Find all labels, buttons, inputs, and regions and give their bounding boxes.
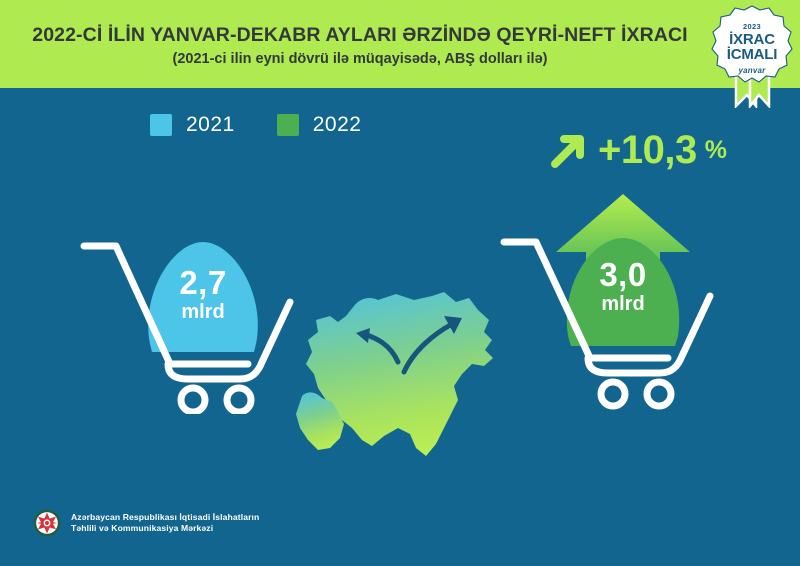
azerbaijan-map-icon (286, 288, 516, 478)
infographic-poster: 2022-Cİ İLİN YANVAR-DEKABR AYLARI ƏRZİND… (0, 0, 800, 566)
growth-value: +10,3 (598, 130, 697, 170)
legend-swatch-2022-icon (277, 114, 299, 136)
footer-line1: Azərbaycan Respublikası İqtisadi İslahat… (71, 512, 259, 524)
footer-text-block: Azərbaycan Respublikası İqtisadi İslahat… (71, 512, 259, 535)
organization-emblem-icon (32, 508, 62, 538)
legend-item-2022: 2022 (277, 113, 362, 137)
page-subtitle: (2021-ci ilin eyni dövrü ilə müqayisədə,… (0, 48, 720, 70)
legend-label-2021: 2021 (186, 113, 235, 137)
chart-legend: 2021 2022 (150, 113, 361, 137)
legend-swatch-2021-icon (150, 114, 172, 136)
footer-line2: Təhlili və Kommunikasiya Mərkəzi (71, 523, 259, 535)
title-block: 2022-Cİ İLİN YANVAR-DEKABR AYLARI ƏRZİND… (0, 22, 720, 70)
export-review-seal: 2023 İXRAC İCMALI yanvar (706, 2, 798, 108)
azerbaijan-map (286, 288, 516, 478)
arrow-up-right-icon (546, 128, 590, 172)
legend-item-2021: 2021 (150, 113, 235, 137)
page-title: 2022-Cİ İLİN YANVAR-DEKABR AYLARI ƏRZİND… (0, 22, 720, 48)
growth-percent-sign: % (705, 136, 727, 165)
seal-icon (706, 2, 798, 108)
footer: Azərbaycan Respublikası İqtisadi İslahat… (32, 508, 259, 538)
legend-label-2022: 2022 (313, 113, 362, 137)
cart-2022: 3,0 mlrd (498, 186, 748, 414)
growth-indicator: +10,3 % (546, 128, 727, 172)
cart-2022-icon (498, 186, 748, 414)
